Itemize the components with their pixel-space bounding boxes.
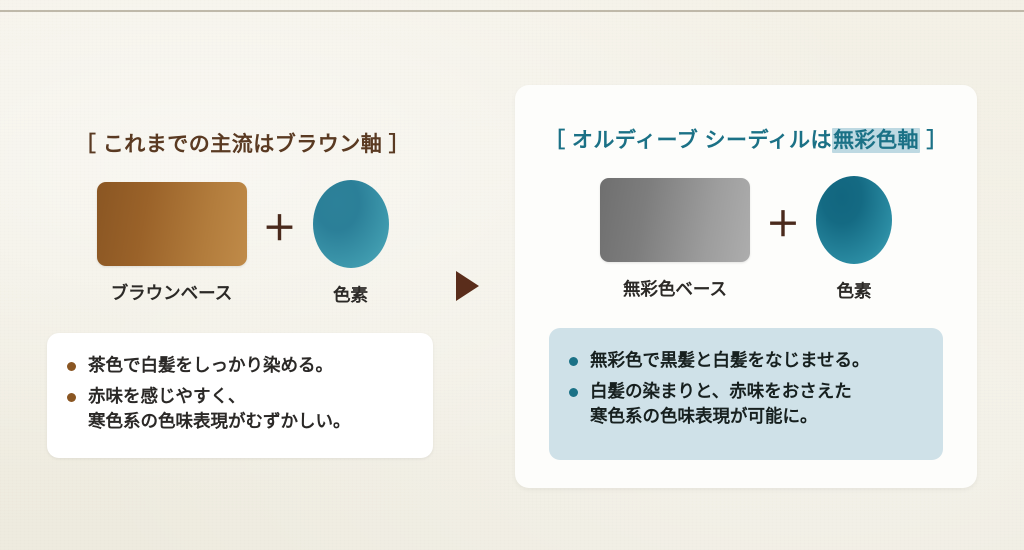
list-item: 白髪の染まりと、赤味をおさえた 寒色系の色味表現が可能に。 xyxy=(569,379,921,429)
bullet-text-line1: 赤味を感じやすく、 xyxy=(88,386,246,406)
pigment-ellipse-swatch xyxy=(313,180,389,268)
right-pigment-group: 色素 xyxy=(816,176,892,303)
list-item: 無彩色で黒髪と白髪をなじませる。 xyxy=(569,348,921,373)
right-swatch-row: 無彩色ベース ＋ 色素 xyxy=(515,176,977,303)
top-divider-rule xyxy=(0,10,1024,12)
bullet-text-line2: 寒色系の色味表現が可能に。 xyxy=(590,404,921,429)
achromatic-base-caption: 無彩色ベース xyxy=(623,276,727,301)
bullet-text-line1: 茶色で白髪をしっかり染める。 xyxy=(88,355,333,375)
right-panel: ［ オルディーブ シーディルは無彩色軸 ］ 無彩色ベース ＋ 色素 無彩色で黒髪… xyxy=(515,85,977,488)
left-swatch-row: ブラウンベース ＋ 色素 xyxy=(40,180,445,307)
pigment-ellipse-swatch xyxy=(816,176,892,264)
list-item: 赤味を感じやすく、 寒色系の色味表現がむずかしい。 xyxy=(67,384,411,434)
achromatic-base-group: 無彩色ベース xyxy=(600,178,750,301)
left-pigment-caption: 色素 xyxy=(333,282,368,307)
left-bullet-list: 茶色で白髪をしっかり染める。 赤味を感じやすく、 寒色系の色味表現がむずかしい。 xyxy=(67,353,411,434)
brown-base-group: ブラウンベース xyxy=(97,182,247,305)
left-panel: ［ これまでの主流はブラウン軸 ］ ブラウンベース ＋ 色素 茶色で白髪をしっか… xyxy=(40,110,445,470)
bullet-text-line1: 無彩色で黒髪と白髪をなじませる。 xyxy=(590,350,869,370)
right-heading-highlight: 無彩色軸 xyxy=(832,128,920,153)
left-note-card: 茶色で白髪をしっかり染める。 赤味を感じやすく、 寒色系の色味表現がむずかしい。 xyxy=(47,333,433,458)
list-item: 茶色で白髪をしっかり染める。 xyxy=(67,353,411,378)
right-heading-suffix: ］ xyxy=(920,129,948,152)
left-panel-heading: ［ これまでの主流はブラウン軸 ］ xyxy=(40,128,445,158)
brown-base-caption: ブラウンベース xyxy=(111,280,233,305)
right-heading-prefix: ［ オルディーブ シーディルは xyxy=(544,129,832,152)
brown-base-swatch xyxy=(97,182,247,266)
plus-icon: ＋ xyxy=(263,212,297,246)
bullet-text-line1: 白髪の染まりと、赤味をおさえた xyxy=(590,381,852,401)
bullet-text-line2: 寒色系の色味表現がむずかしい。 xyxy=(88,409,411,434)
right-bullet-list: 無彩色で黒髪と白髪をなじませる。 白髪の染まりと、赤味をおさえた 寒色系の色味表… xyxy=(569,348,921,429)
achromatic-base-swatch xyxy=(600,178,750,262)
right-panel-heading: ［ オルディーブ シーディルは無彩色軸 ］ xyxy=(515,124,977,154)
left-pigment-group: 色素 xyxy=(313,180,389,307)
right-note-card: 無彩色で黒髪と白髪をなじませる。 白髪の染まりと、赤味をおさえた 寒色系の色味表… xyxy=(549,328,943,460)
right-pigment-caption: 色素 xyxy=(837,278,872,303)
plus-icon: ＋ xyxy=(766,208,800,242)
triangle-right-icon xyxy=(456,271,479,301)
